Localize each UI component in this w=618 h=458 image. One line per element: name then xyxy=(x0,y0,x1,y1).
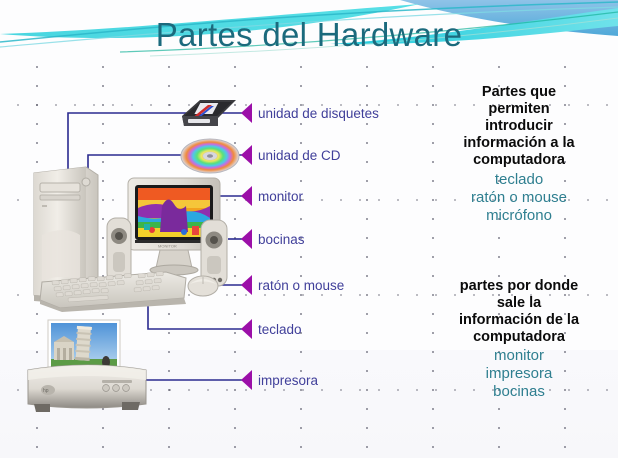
callout-arrow-raton-o-mouse xyxy=(241,275,252,295)
compact-disc-icon xyxy=(180,138,240,174)
keyboard-icon xyxy=(38,268,188,312)
callout-label-bocinas: bocinas xyxy=(258,233,305,247)
callout-arrow-bocinas xyxy=(241,229,252,249)
mouse-icon xyxy=(186,272,220,298)
svg-text:hp: hp xyxy=(43,388,49,394)
list-item: bocinas xyxy=(424,383,614,401)
list-item: teclado xyxy=(424,171,614,189)
input-devices-panel: Partes que permiten introducir informaci… xyxy=(424,84,614,225)
list-item: micrófono xyxy=(424,207,614,225)
input-panel-heading: Partes que permiten introducir informaci… xyxy=(424,84,614,170)
list-item: monitor xyxy=(424,347,614,365)
callout-label-monitor: monitor xyxy=(258,190,303,204)
callout-arrow-teclado xyxy=(241,319,252,339)
slide-title: Partes del Hardware xyxy=(0,16,618,54)
output-devices-panel: partes por donde sale la información de … xyxy=(424,278,614,401)
callout-arrow-impresora xyxy=(241,370,252,390)
callout-arrow-unidad-de-disquetes xyxy=(241,103,252,123)
output-panel-list: monitor impresora bocinas xyxy=(424,347,614,401)
callout-arrow-unidad-de-cd xyxy=(241,145,252,165)
floppy-disk-icon xyxy=(178,96,240,132)
callout-label-teclado: teclado xyxy=(258,323,302,337)
printer-icon: hp xyxy=(26,318,150,418)
output-panel-heading: partes por donde sale la información de … xyxy=(424,278,614,346)
list-item: impresora xyxy=(424,365,614,383)
leaning-tower-of-pisa-photo xyxy=(48,320,120,372)
callout-label-impresora: impresora xyxy=(258,374,318,388)
callout-arrow-monitor xyxy=(241,186,252,206)
list-item: ratón o mouse xyxy=(424,189,614,207)
callout-label-raton-o-mouse: ratón o mouse xyxy=(258,279,344,293)
slide-canvas: Partes del Hardware xyxy=(0,0,618,458)
svg-text:MONITOR: MONITOR xyxy=(158,244,177,249)
callout-label-unidad-de-cd: unidad de CD xyxy=(258,149,341,163)
input-panel-list: teclado ratón o mouse micrófono xyxy=(424,171,614,225)
callout-label-unidad-de-disquetes: unidad de disquetes xyxy=(258,107,379,121)
